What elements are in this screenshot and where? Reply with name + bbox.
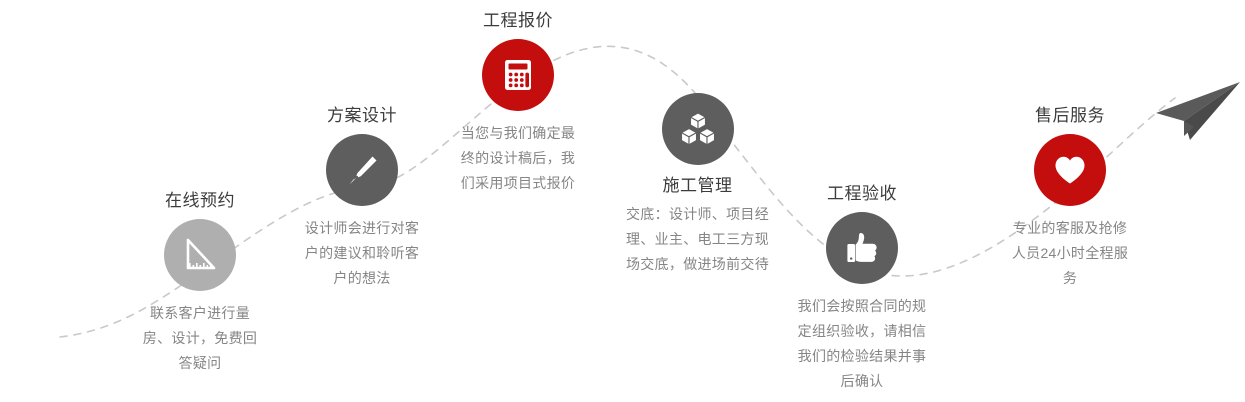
step-3-line-3: 们采用项目式报价 bbox=[423, 171, 613, 196]
step-6-title: 售后服务 bbox=[975, 105, 1165, 126]
step-5-line-2: 定组织验收，请相信 bbox=[767, 319, 957, 344]
step-2-description: 设计师会进行对客 户的建议和聆听客 户的想法 bbox=[267, 216, 457, 291]
process-flow-graphic: 在线预约 联系客户进行量 房、设计 bbox=[0, 0, 1245, 402]
stacked-cubes-icon bbox=[677, 108, 719, 150]
step-5-circle bbox=[826, 212, 898, 284]
step-2-line-3: 户的想法 bbox=[267, 266, 457, 291]
step-5-line-1: 我们会按照合同的规 bbox=[767, 294, 957, 319]
step-6-line-1: 专业的客服及抢修 bbox=[975, 216, 1165, 241]
fountain-pen-icon bbox=[342, 150, 382, 190]
step-1-circle bbox=[164, 219, 236, 291]
step-2-line-2: 户的建议和聆听客 bbox=[267, 241, 457, 266]
step-5-line-4: 后确认 bbox=[767, 369, 957, 394]
step-6-description: 专业的客服及抢修 人员24小时全程服 务 bbox=[975, 216, 1165, 291]
step-2-line-1: 设计师会进行对客 bbox=[267, 216, 457, 241]
set-square-ruler-icon bbox=[180, 235, 220, 275]
calculator-icon bbox=[498, 55, 538, 95]
step-4-circle bbox=[662, 93, 734, 165]
heart-icon bbox=[1050, 150, 1090, 190]
step-3-line-1: 当您与我们确定最 bbox=[423, 121, 613, 146]
step-6-circle bbox=[1034, 134, 1106, 206]
step-6-line-2: 人员24小时全程服 bbox=[975, 241, 1165, 266]
step-3: 工程报价 bbox=[423, 10, 613, 196]
thumbs-up-icon bbox=[842, 228, 882, 268]
step-3-title: 工程报价 bbox=[423, 10, 613, 31]
step-1-line-3: 答疑问 bbox=[105, 351, 295, 376]
step-1-description: 联系客户进行量 房、设计，免费回 答疑问 bbox=[105, 301, 295, 376]
step-3-circle bbox=[482, 39, 554, 111]
step-2-circle bbox=[326, 134, 398, 206]
step-1-line-1: 联系客户进行量 bbox=[105, 301, 295, 326]
step-5-description: 我们会按照合同的规 定组织验收，请相信 我们的检验结果并事 后确认 bbox=[767, 294, 957, 394]
step-5-title: 工程验收 bbox=[767, 183, 957, 204]
step-6: 售后服务 专业的客服及抢修 人员24小时全程服 务 bbox=[975, 105, 1165, 291]
step-5-line-3: 我们的检验结果并事 bbox=[767, 344, 957, 369]
step-3-description: 当您与我们确定最 终的设计稿后，我 们采用项目式报价 bbox=[423, 121, 613, 196]
step-1-line-2: 房、设计，免费回 bbox=[105, 326, 295, 351]
step-6-line-3: 务 bbox=[975, 266, 1165, 291]
step-5: 工程验收 我们会按照合同的规 定组织验收，请相信 我们的检验结果并事 后确认 bbox=[767, 183, 957, 394]
step-3-line-2: 终的设计稿后，我 bbox=[423, 146, 613, 171]
